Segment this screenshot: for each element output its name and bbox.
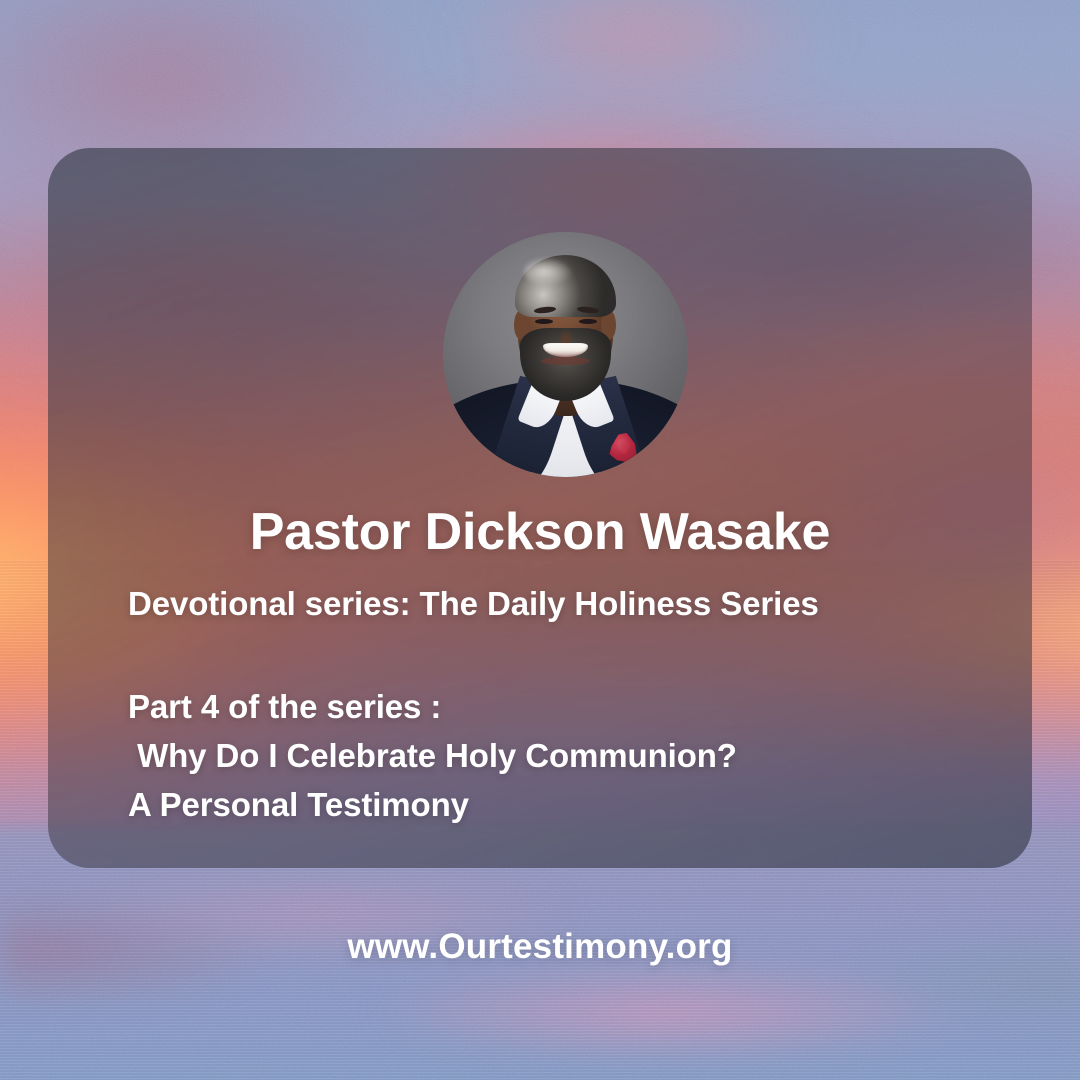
speaker-portrait-photo [443, 232, 688, 477]
website-url[interactable]: www.Ourtestimony.org [0, 927, 1080, 967]
devotional-series-subtitle: Devotional series: The Daily Holiness Se… [128, 585, 819, 623]
speaker-name: Pastor Dickson Wasake [48, 502, 1032, 562]
glass-content-card: Pastor Dickson Wasake Devotional series:… [48, 148, 1032, 868]
speaker-avatar [443, 232, 688, 477]
poster-canvas: Pastor Dickson Wasake Devotional series:… [0, 0, 1080, 1080]
series-part-details: Part 4 of the series : Why Do I Celebrat… [128, 682, 737, 829]
portrait-hair-highlight [524, 257, 573, 286]
